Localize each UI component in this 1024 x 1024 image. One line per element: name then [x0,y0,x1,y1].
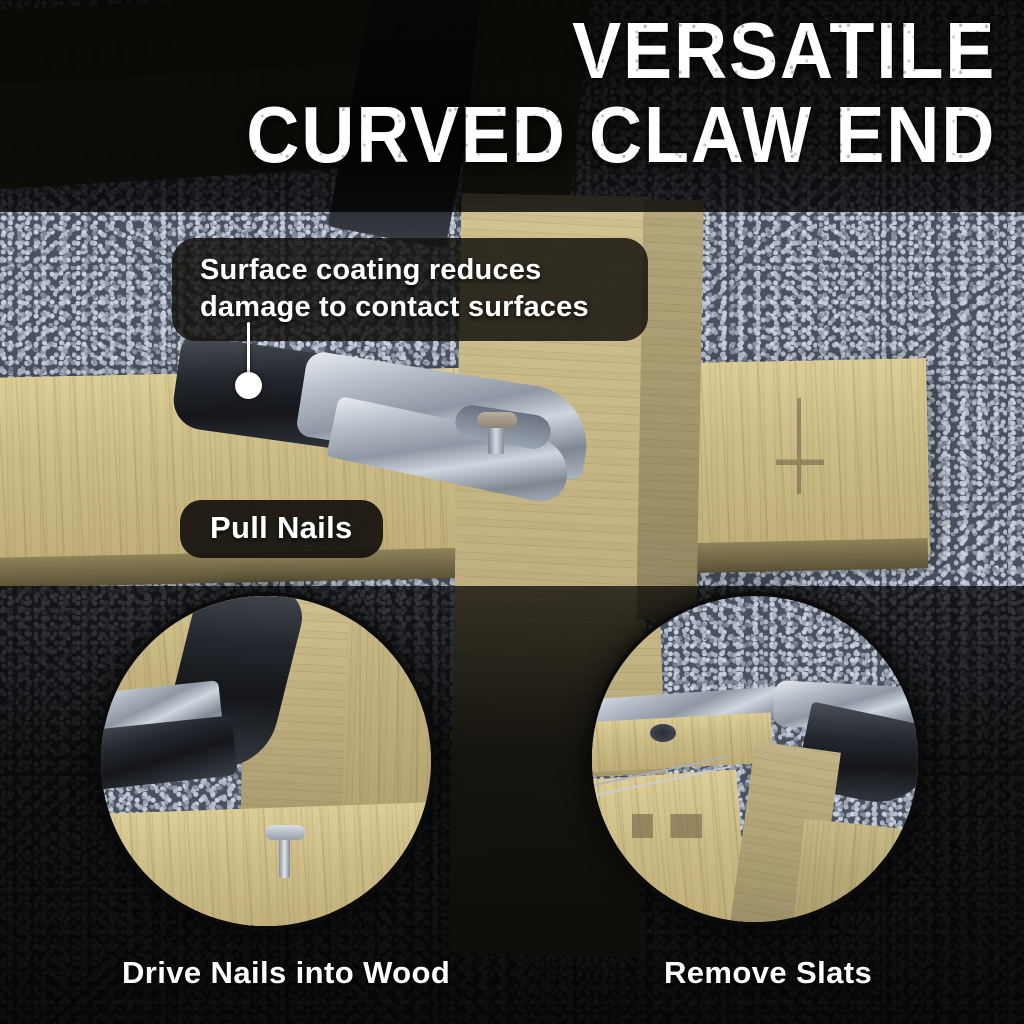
product-feature-image: VERSATILE CURVED CLAW END Surface coatin… [0,0,1024,1024]
caption-drive-nails: Drive Nails into Wood [122,955,450,991]
headline-line-2: CURVED CLAW END [246,98,996,172]
inset-circle-drive-nails [97,592,435,930]
callout-leader-dot [235,372,262,399]
callout-line-1: Surface coating reduces [200,252,626,289]
callout-box: Surface coating reduces damage to contac… [172,238,648,341]
inset-right-slat-marks [632,814,702,838]
pull-nails-label-text: Pull Nails [210,510,353,545]
inset-right-bar-hole [650,724,676,742]
inset-left-nail-head [265,825,305,840]
inset-left-wood-right [342,592,435,824]
headline: VERSATILE CURVED CLAW END [181,14,996,171]
inset-left-wood-board [97,801,435,930]
gripped-nail-head [477,412,517,428]
callout-leader-line [247,322,250,378]
caption-remove-slats: Remove Slats [664,955,872,991]
board-pencil-marks [776,398,824,494]
inset-circle-remove-slats [588,592,922,926]
callout-line-2: damage to contact surfaces [200,289,626,326]
inset-right-slat-right [792,819,914,926]
inset-left-nail-shaft [279,836,290,878]
headline-line-1: VERSATILE [246,14,996,88]
pull-nails-label: Pull Nails [180,500,383,558]
